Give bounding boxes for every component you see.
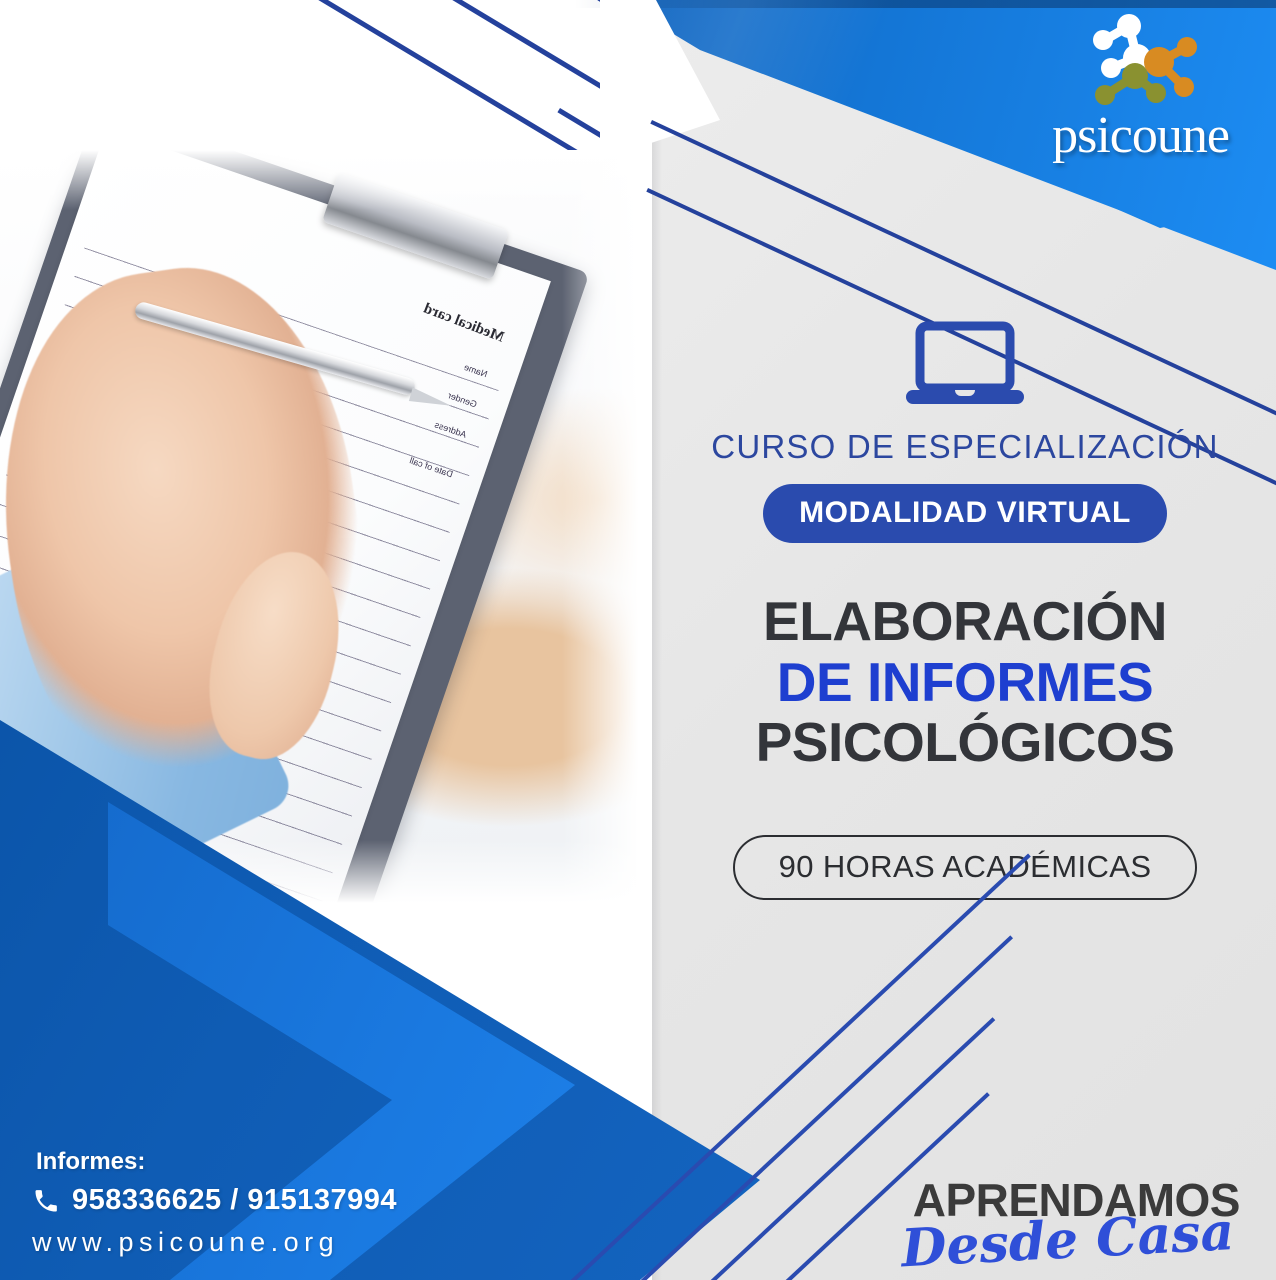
contact-phone-row[interactable]: 958336625 / 915137994: [32, 1184, 397, 1217]
hours-badge[interactable]: 90 HORAS ACADÉMICAS: [733, 835, 1198, 900]
form-title: Medical card: [422, 301, 507, 347]
molecule-network-icon: [1085, 14, 1205, 119]
phone-icon: [32, 1187, 60, 1215]
brand-logo[interactable]: psicoune: [1033, 14, 1248, 164]
main-content: CURSO DE ESPECIALIZACIÓN MODALIDAD VIRTU…: [660, 320, 1270, 900]
course-kicker: CURSO DE ESPECIALIZACIÓN: [660, 428, 1270, 466]
brand-wordmark: psicoune: [1033, 110, 1248, 162]
title-line-1: ELABORACIÓN: [660, 591, 1270, 652]
contact-label: Informes:: [36, 1148, 397, 1176]
photo-fade-top: [0, 150, 652, 210]
title-line-3: PSICOLÓGICOS: [660, 712, 1270, 773]
tagline-block: APRENDAMOS Desde Casa: [840, 1177, 1240, 1254]
modality-badge-wrap: MODALIDAD VIRTUAL: [660, 484, 1270, 543]
contact-phone-numbers[interactable]: 958336625 / 915137994: [72, 1184, 397, 1217]
hours-badge-wrap: 90 HORAS ACADÉMICAS: [660, 773, 1270, 900]
laptop-icon: [900, 320, 1030, 410]
title-line-2: DE INFORMES: [660, 652, 1270, 713]
form-field: Name: [463, 362, 489, 379]
contact-block: Informes: 958336625 / 915137994 www.psic…: [32, 1148, 397, 1258]
contact-website[interactable]: www.psicoune.org: [32, 1227, 397, 1258]
photo-fade-right: [562, 150, 652, 910]
page-title: ELABORACIÓN DE INFORMES PSICOLÓGICOS: [660, 591, 1270, 773]
poster-canvas: Medical card Name Gender Address Date of…: [0, 0, 1276, 1280]
modality-badge[interactable]: MODALIDAD VIRTUAL: [763, 484, 1167, 543]
